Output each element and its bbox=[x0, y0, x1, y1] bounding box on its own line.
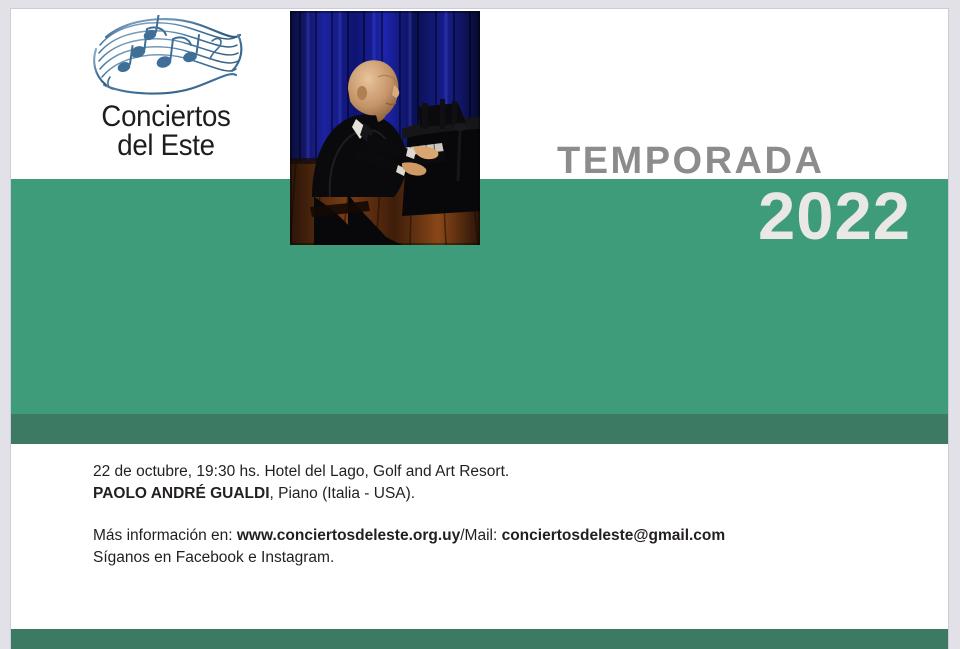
season-label: TEMPORADA bbox=[557, 142, 824, 180]
mail-separator: /Mail: bbox=[460, 527, 501, 544]
email-link[interactable]: conciertosdeleste@gmail.com bbox=[502, 527, 726, 544]
pianist-photo-illustration bbox=[290, 11, 480, 245]
organization-name-line1: Conciertos bbox=[101, 100, 230, 133]
organization-name-line2: del Este bbox=[88, 131, 244, 160]
copy-spacer bbox=[93, 506, 893, 525]
poster-page: Conciertos del Este TEMPORADA 2022 bbox=[11, 9, 948, 649]
organization-name: Conciertos del Este bbox=[88, 102, 244, 161]
musical-staff-notes-icon bbox=[86, 15, 246, 101]
screenshot-canvas: Conciertos del Este TEMPORADA 2022 bbox=[0, 0, 960, 649]
artist-name: PAOLO ANDRÉ GUALDI bbox=[93, 485, 270, 502]
info-prefix: Más información en: bbox=[93, 527, 237, 544]
event-artist-line: PAOLO ANDRÉ GUALDI, Piano (Italia - USA)… bbox=[93, 483, 893, 505]
green-band-footer bbox=[11, 629, 948, 649]
season-year: 2022 bbox=[758, 183, 911, 250]
organization-logo: Conciertos del Este bbox=[81, 15, 251, 161]
event-details: 22 de octubre, 19:30 hs. Hotel del Lago,… bbox=[93, 461, 893, 570]
social-line: Síganos en Facebook e Instagram. bbox=[93, 547, 893, 569]
green-band-dark bbox=[11, 414, 948, 444]
pianist-photo bbox=[290, 11, 480, 245]
contact-line: Más información en: www.conciertosdelest… bbox=[93, 525, 893, 547]
website-link[interactable]: www.conciertosdeleste.org.uy bbox=[237, 527, 460, 544]
event-date-venue: 22 de octubre, 19:30 hs. Hotel del Lago,… bbox=[93, 461, 893, 483]
artist-role: , Piano (Italia - USA). bbox=[270, 485, 416, 502]
